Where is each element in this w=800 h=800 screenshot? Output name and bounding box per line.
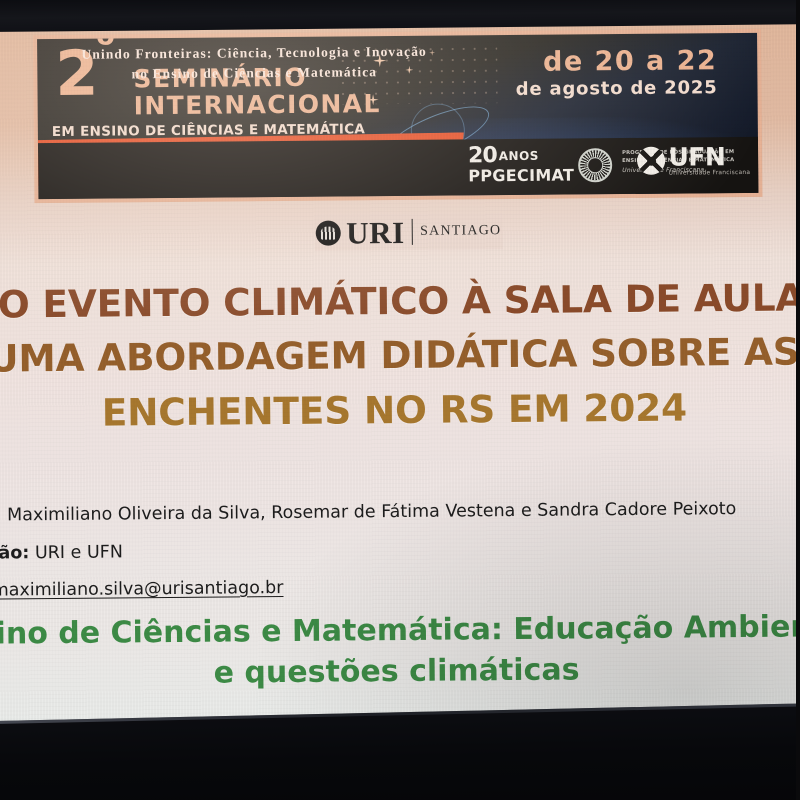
- institution-value: URI e UFN: [35, 542, 123, 563]
- authors-label: Autores:: [0, 505, 2, 526]
- slide-title: DO EVENTO CLIMÁTICO À SALA DE AULA: UMA …: [0, 270, 800, 441]
- institution-row: Instituição: URI e UFN: [0, 538, 800, 563]
- institution-label: Instituição:: [0, 543, 29, 564]
- banner-date-range: de 20 a 22: [543, 45, 717, 78]
- title-line-3: ENCHENTES NO RS EM 2024: [0, 379, 800, 442]
- slide-metadata: Autores: Maximiliano Oliveira da Silva, …: [0, 500, 800, 620]
- uri-santiago-logo: URI SANTIAGO: [315, 213, 503, 251]
- ppgecimat-years: 20: [468, 143, 497, 168]
- banner-title-line2: INTERNACIONAL: [134, 91, 381, 118]
- ufn-mark-icon: [637, 147, 665, 175]
- slide-screen: 2o SEMINÁRIO INTERNACIONAL EM ENSINO DE …: [0, 18, 800, 731]
- uri-divider: [411, 219, 413, 245]
- ufn-abbrev: UFN: [668, 145, 750, 169]
- subtitle-line-2: e questões climáticas: [0, 647, 800, 697]
- photograph-of-screen: 2o SEMINÁRIO INTERNACIONAL EM ENSINO DE …: [0, 0, 800, 800]
- ppgecimat-anos-label: ANOS: [499, 148, 539, 162]
- banner-logo-strip: 20ANOS PPGECIMAT PROGRAMA DE PÓS-GRADUAÇ…: [38, 137, 758, 199]
- banner-date-month: de agosto de 2025: [516, 77, 718, 100]
- authors-row: Autores: Maximiliano Oliveira da Silva, …: [0, 500, 800, 525]
- banner-theme-text: Unindo Fronteiras: Ciência, Tecnologia e…: [47, 41, 461, 84]
- ppgecimat-logo: 20ANOS PPGECIMAT: [468, 142, 574, 185]
- email-row: E-mail: maximiliano.silva@urisantiago.br: [0, 575, 800, 600]
- event-banner: 2o SEMINÁRIO INTERNACIONAL EM ENSINO DE …: [33, 29, 762, 203]
- authors-value: Maximiliano Oliveira da Silva, Rosemar d…: [7, 499, 736, 525]
- uri-emblem-icon: [316, 220, 341, 245]
- ppgecimat-name: PPGECIMAT: [468, 165, 574, 185]
- title-line-1: DO EVENTO CLIMÁTICO À SALA DE AULA:: [0, 270, 800, 333]
- ufn-fullname: Universidade Franciscana: [669, 169, 751, 177]
- monitor-bezel-right: [796, 0, 800, 800]
- ufn-logo: UFN Universidade Franciscana: [637, 145, 750, 177]
- title-line-2: UMA ABORDAGEM DIDÁTICA SOBRE AS: [0, 324, 800, 387]
- uri-campus-label: SANTIAGO: [420, 223, 501, 240]
- university-seal-icon: [578, 148, 612, 182]
- uri-wordmark: URI: [346, 216, 405, 248]
- email-link[interactable]: maximiliano.silva@urisantiago.br: [0, 578, 284, 601]
- slide-subtitle: Ensino de Ciências e Matemática: Educaçã…: [0, 606, 800, 697]
- subtitle-line-1: Ensino de Ciências e Matemática: Educaçã…: [0, 609, 800, 652]
